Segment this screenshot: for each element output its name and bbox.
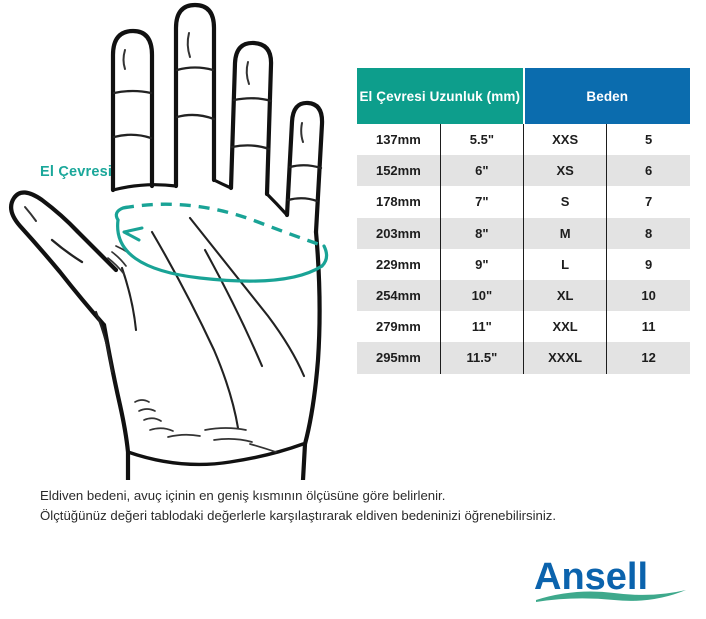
table-body: 137mm5.5"XXS5152mm6"XS6178mm7"S7203mm8"M…	[357, 124, 690, 374]
cell-circumference-inch: 5.5"	[440, 124, 523, 155]
cell-size-letter: XS	[524, 155, 607, 186]
table-row: 152mm6"XS6	[357, 155, 690, 186]
cell-size-letter: XXXL	[524, 342, 607, 373]
table-row: 279mm11"XXL11	[357, 311, 690, 342]
cell-size-letter: XXS	[524, 124, 607, 155]
cell-circumference-mm: 203mm	[357, 218, 440, 249]
cell-circumference-mm: 137mm	[357, 124, 440, 155]
table-row: 295mm11.5"XXXL12	[357, 342, 690, 373]
column-header-size: Beden	[524, 68, 691, 124]
cell-size-letter: XXL	[524, 311, 607, 342]
table-row: 229mm9"L9	[357, 249, 690, 280]
cell-size-number: 7	[607, 186, 690, 217]
cell-size-letter: M	[524, 218, 607, 249]
cell-circumference-mm: 152mm	[357, 155, 440, 186]
table-header-row: El Çevresi Uzunluk (mm) Beden	[357, 68, 690, 124]
cell-size-letter: XL	[524, 280, 607, 311]
caption-line-1: Eldiven bedeni, avuç içinin en geniş kıs…	[40, 486, 670, 506]
cell-size-number: 8	[607, 218, 690, 249]
column-header-circumference: El Çevresi Uzunluk (mm)	[357, 68, 524, 124]
ansell-logo: Ansell	[534, 556, 690, 604]
cell-size-number: 5	[607, 124, 690, 155]
glove-size-table: El Çevresi Uzunluk (mm) Beden 137mm5.5"X…	[357, 68, 690, 374]
instruction-caption: Eldiven bedeni, avuç içinin en geniş kıs…	[40, 486, 670, 526]
table-row: 203mm8"M8	[357, 218, 690, 249]
cell-circumference-inch: 7"	[440, 186, 523, 217]
cell-size-number: 11	[607, 311, 690, 342]
table-row: 254mm10"XL10	[357, 280, 690, 311]
table-row: 137mm5.5"XXS5	[357, 124, 690, 155]
cell-size-letter: S	[524, 186, 607, 217]
cell-circumference-inch: 9"	[440, 249, 523, 280]
caption-line-2: Ölçtüğünüz değeri tablodaki değerlerle k…	[40, 506, 670, 526]
table-row: 178mm7"S7	[357, 186, 690, 217]
cell-circumference-inch: 11"	[440, 311, 523, 342]
glove-size-chart-page: El Çevresi El Çevresi Uzunluk (mm) Beden…	[0, 0, 706, 619]
cell-circumference-mm: 178mm	[357, 186, 440, 217]
cell-size-number: 6	[607, 155, 690, 186]
cell-circumference-mm: 279mm	[357, 311, 440, 342]
cell-size-number: 12	[607, 342, 690, 373]
cell-circumference-inch: 11.5"	[440, 342, 523, 373]
cell-size-letter: L	[524, 249, 607, 280]
hand-circumference-label: El Çevresi	[40, 164, 112, 180]
cell-circumference-mm: 254mm	[357, 280, 440, 311]
cell-circumference-inch: 6"	[440, 155, 523, 186]
hand-illustration	[0, 0, 350, 480]
cell-size-number: 10	[607, 280, 690, 311]
cell-circumference-inch: 10"	[440, 280, 523, 311]
cell-circumference-mm: 295mm	[357, 342, 440, 373]
table-header: El Çevresi Uzunluk (mm) Beden	[357, 68, 690, 124]
cell-circumference-inch: 8"	[440, 218, 523, 249]
cell-size-number: 9	[607, 249, 690, 280]
cell-circumference-mm: 229mm	[357, 249, 440, 280]
